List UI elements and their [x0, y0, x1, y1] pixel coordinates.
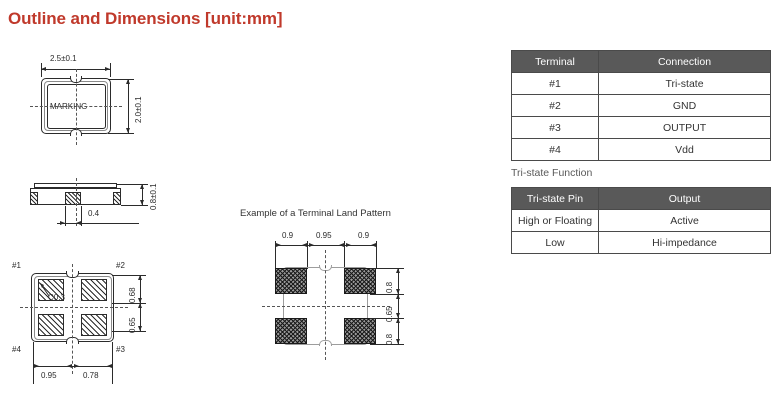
center-line-horizontal	[262, 306, 390, 307]
side-view-height-dim: 0.8±0.1	[150, 183, 158, 210]
terminal-right	[113, 192, 121, 205]
ext-line	[112, 342, 113, 384]
table-row: #3 OUTPUT	[512, 117, 771, 139]
land-pad-4	[275, 318, 307, 344]
page-title: Outline and Dimensions [unit:mm]	[8, 9, 282, 29]
ext-line	[376, 241, 377, 269]
terminal-center	[65, 192, 81, 205]
ext-line	[108, 79, 134, 80]
column-header-output: Output	[599, 188, 771, 210]
terminal-pad-3	[81, 314, 107, 336]
cell-terminal: #2	[512, 95, 599, 117]
terminal-left	[30, 192, 38, 205]
top-view-width-dim: 2.5±0.1	[50, 55, 77, 63]
dim-line-height	[128, 79, 129, 133]
terminal-label-3: #3	[116, 346, 125, 354]
cell-connection: OUTPUT	[599, 117, 771, 139]
ext-line	[370, 268, 404, 269]
ext-line	[117, 184, 148, 185]
ext-line	[33, 342, 34, 384]
cell-terminal: #1	[512, 73, 599, 95]
land-pattern-drawing: Example of a Terminal Land Pattern 0.9 0…	[240, 205, 440, 365]
land-pad-1	[275, 268, 307, 294]
ext-line	[41, 63, 42, 77]
tristate-function-table: Tri-state Pin Output High or Floating Ac…	[511, 187, 771, 254]
land-dim-08-top: 0.8	[386, 282, 394, 293]
ext-line	[307, 241, 308, 269]
dim-line-terminal	[57, 223, 139, 224]
terminal-label-2: #2	[116, 262, 125, 270]
top-view-height-dim: 2.0±0.1	[135, 96, 143, 123]
ext-line	[112, 303, 146, 304]
cell-output: Hi-impedance	[599, 232, 771, 254]
terminal-label-1: #1	[12, 262, 21, 270]
cell-tristate-pin: High or Floating	[512, 210, 599, 232]
ext-line	[110, 63, 111, 77]
ext-line	[370, 294, 404, 295]
ext-line	[65, 206, 66, 226]
table-row: #2 GND	[512, 95, 771, 117]
bottom-view-dim-078: 0.78	[83, 372, 99, 380]
land-dim-09-right: 0.9	[358, 232, 369, 240]
cell-tristate-pin: Low	[512, 232, 599, 254]
terminal-pad-2	[81, 279, 107, 301]
land-pattern-caption: Example of a Terminal Land Pattern	[240, 208, 391, 219]
land-pad-2	[344, 268, 376, 294]
arrow-right	[346, 243, 351, 247]
center-line-horizontal	[20, 307, 128, 308]
terminal-connection-table-wrap: Terminal Connection #1 Tri-state #2 GND …	[511, 50, 771, 161]
table-header-row: Terminal Connection	[512, 51, 771, 73]
ext-line	[112, 331, 146, 332]
ext-line	[275, 241, 276, 269]
top-view-drawing: 2.5±0.1 MARKING 2.0±0.1	[0, 45, 180, 175]
land-pad-3	[344, 318, 376, 344]
tristate-function-caption: Tri-state Function	[511, 167, 592, 179]
center-line-vertical	[72, 264, 73, 374]
ext-line	[370, 344, 404, 345]
arrow-right	[276, 243, 281, 247]
land-dim-095: 0.95	[316, 232, 332, 240]
arrow-right	[309, 243, 314, 247]
bottom-view-dim-068: 0.68	[129, 287, 137, 303]
terminal-connection-table: Terminal Connection #1 Tri-state #2 GND …	[511, 50, 771, 161]
terminal-label-4: #4	[12, 346, 21, 354]
column-header-terminal: Terminal	[512, 51, 599, 73]
side-view-terminal-dim: 0.4	[88, 210, 99, 218]
arrow-right	[74, 364, 79, 368]
ext-line	[121, 205, 148, 206]
chamfer-leader-line	[39, 282, 51, 298]
ext-line	[344, 241, 345, 269]
tristate-function-table-wrap: Tri-state Pin Output High or Floating Ac…	[511, 187, 771, 254]
ext-line	[112, 275, 146, 276]
land-dim-09-left: 0.9	[282, 232, 293, 240]
table-row: #1 Tri-state	[512, 73, 771, 95]
center-line-vertical	[76, 69, 77, 145]
column-header-connection: Connection	[599, 51, 771, 73]
side-view-drawing: 0.8±0.1 0.4	[0, 178, 180, 243]
cell-terminal: #3	[512, 117, 599, 139]
table-header-row: Tri-state Pin Output	[512, 188, 771, 210]
table-row: Low Hi-impedance	[512, 232, 771, 254]
center-line-vertical	[325, 250, 326, 360]
center-line-vertical	[76, 178, 77, 226]
cell-terminal: #4	[512, 139, 599, 161]
ext-line	[81, 206, 82, 226]
table-row: High or Floating Active	[512, 210, 771, 232]
bottom-view-dim-095: 0.95	[41, 372, 57, 380]
ext-line	[370, 318, 404, 319]
arrow-right	[34, 364, 39, 368]
terminal-pad-4	[38, 314, 64, 336]
land-dim-065: 0.65	[386, 306, 394, 322]
cell-connection: Vdd	[599, 139, 771, 161]
column-header-tristate-pin: Tri-state Pin	[512, 188, 599, 210]
cell-connection: Tri-state	[599, 73, 771, 95]
cell-output: Active	[599, 210, 771, 232]
bottom-view-drawing: #1 #2 #3 #4 C0.3 0.68 0.65 0.95 0.78	[0, 258, 180, 398]
cell-connection: GND	[599, 95, 771, 117]
ext-line	[108, 133, 134, 134]
table-row: #4 Vdd	[512, 139, 771, 161]
